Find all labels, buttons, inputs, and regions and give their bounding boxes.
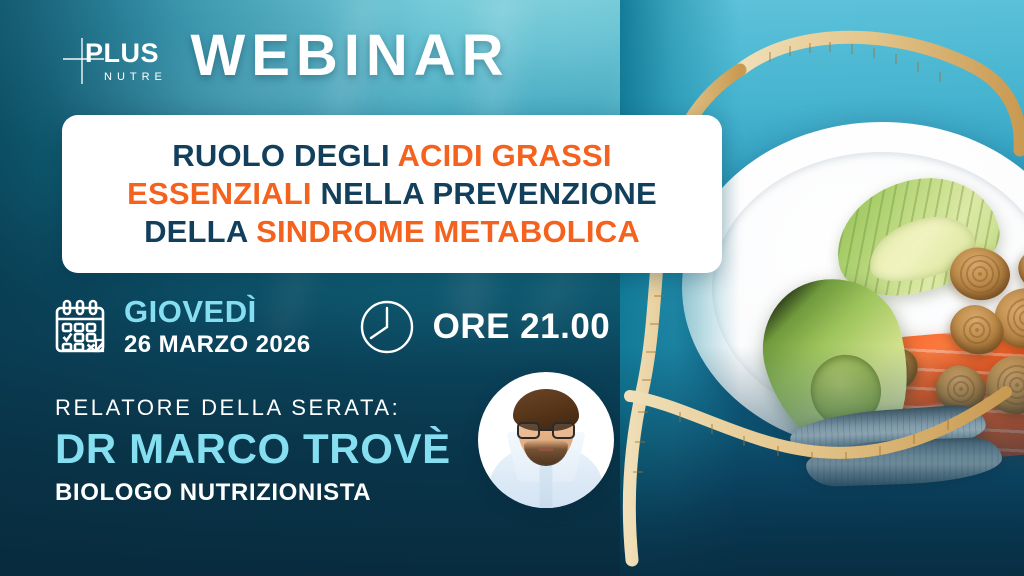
title-line-3-accent: SINDROME METABOLICA: [256, 214, 640, 249]
webinar-eyebrow: WEBINAR: [0, 22, 700, 89]
title-line-3-plain: DELLA: [144, 214, 256, 249]
glasses-bridge: [540, 429, 552, 431]
title-line-1-accent: ACIDI GRASSI: [397, 138, 611, 173]
speaker-block: RELATORE DELLA SERATA: DR MARCO TROVÈ BI…: [55, 395, 451, 507]
title-line-1: RUOLO DEGLI ACIDI GRASSI: [172, 138, 611, 174]
speaker-role: BIOLOGO NUTRIZIONISTA: [55, 479, 451, 507]
event-day: GIOVEDÌ: [124, 296, 311, 327]
title-line-2-accent: ESSENZIALI: [127, 176, 312, 211]
glasses-lens-right: [552, 422, 575, 439]
portrait-glasses: [517, 422, 575, 439]
speaker-intro: RELATORE DELLA SERATA:: [55, 395, 451, 421]
speaker-name: DR MARCO TROVÈ: [55, 427, 451, 471]
title-line-1-plain: RUOLO DEGLI: [172, 138, 397, 173]
clock-icon: [357, 297, 417, 357]
title-line-3: DELLA SINDROME METABOLICA: [144, 214, 640, 250]
calendar-icon: [52, 298, 108, 356]
date-block: GIOVEDÌ 26 MARZO 2026: [124, 296, 311, 357]
title-line-2: ESSENZIALI NELLA PREVENZIONE: [127, 176, 657, 212]
event-meta-row: GIOVEDÌ 26 MARZO 2026 ORE 21.00: [52, 296, 610, 357]
event-time: ORE 21.00: [433, 307, 611, 347]
portrait-mouth: [539, 448, 554, 451]
time-block: ORE 21.00: [357, 297, 611, 357]
title-line-2-plain: NELLA PREVENZIONE: [312, 176, 657, 211]
speaker-portrait: [478, 372, 614, 508]
webinar-poster: PLUS NUTRE WEBINAR RUOLO DEGLI ACIDI GRA…: [0, 0, 1024, 576]
glasses-lens-left: [517, 422, 540, 439]
event-date: 26 MARZO 2026: [124, 333, 311, 357]
title-card: RUOLO DEGLI ACIDI GRASSI ESSENZIALI NELL…: [62, 115, 722, 273]
